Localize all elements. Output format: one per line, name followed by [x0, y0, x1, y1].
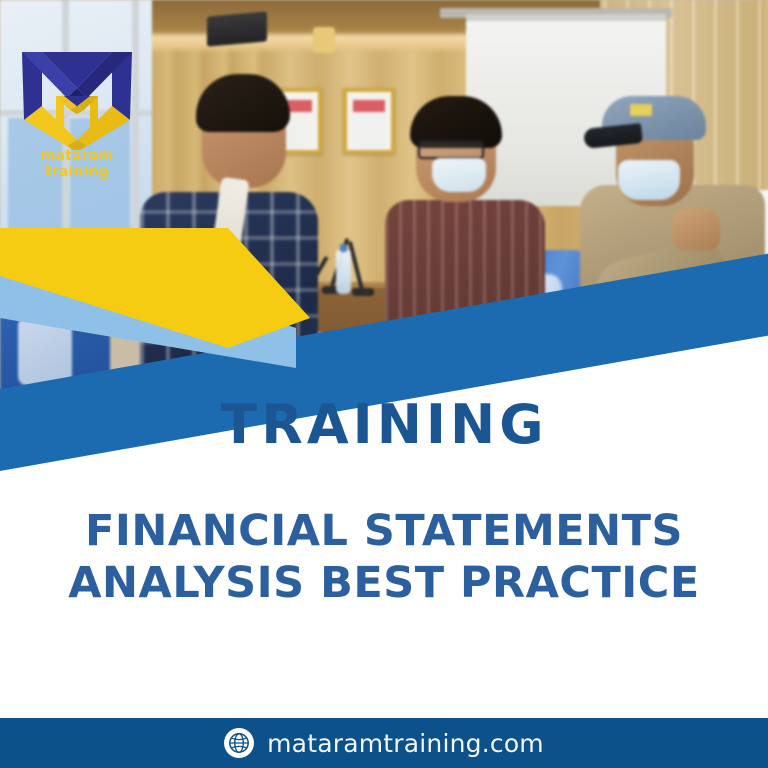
page-title-line-2: ANALYSIS BEST PRACTICE	[0, 557, 768, 609]
id-badge	[262, 300, 288, 334]
globe-icon-glyph	[228, 732, 250, 754]
microphone-base	[352, 288, 374, 296]
eyeglasses	[418, 140, 484, 159]
face-mask	[618, 160, 680, 200]
face-mask	[432, 158, 486, 192]
cap-logo	[630, 104, 652, 116]
globe-icon	[224, 728, 254, 758]
water-bottle	[336, 250, 351, 294]
mataram-training-logo[interactable]: mataram training	[12, 40, 142, 172]
page-title: FINANCIAL STATEMENTS ANALYSIS BEST PRACT…	[0, 505, 768, 610]
page-title-eyebrow: TRAINING	[0, 398, 768, 452]
mataram-m-logo-icon	[12, 40, 142, 150]
wall-speaker	[207, 11, 267, 46]
wall-emblem	[313, 27, 335, 53]
jacket-pocket	[700, 300, 742, 336]
page-title-line-1: FINANCIAL STATEMENTS	[0, 505, 768, 557]
logo-wordmark: mataram training	[12, 148, 142, 180]
website-url[interactable]: mataramtraining.com	[267, 729, 544, 758]
training-poster: mataram training TRAINING FINANCIAL STAT…	[0, 0, 768, 768]
pointing-hand	[672, 208, 720, 250]
wall-portrait	[343, 88, 395, 154]
footer-bar: mataramtraining.com	[0, 718, 768, 768]
striped-shirt	[385, 200, 545, 420]
